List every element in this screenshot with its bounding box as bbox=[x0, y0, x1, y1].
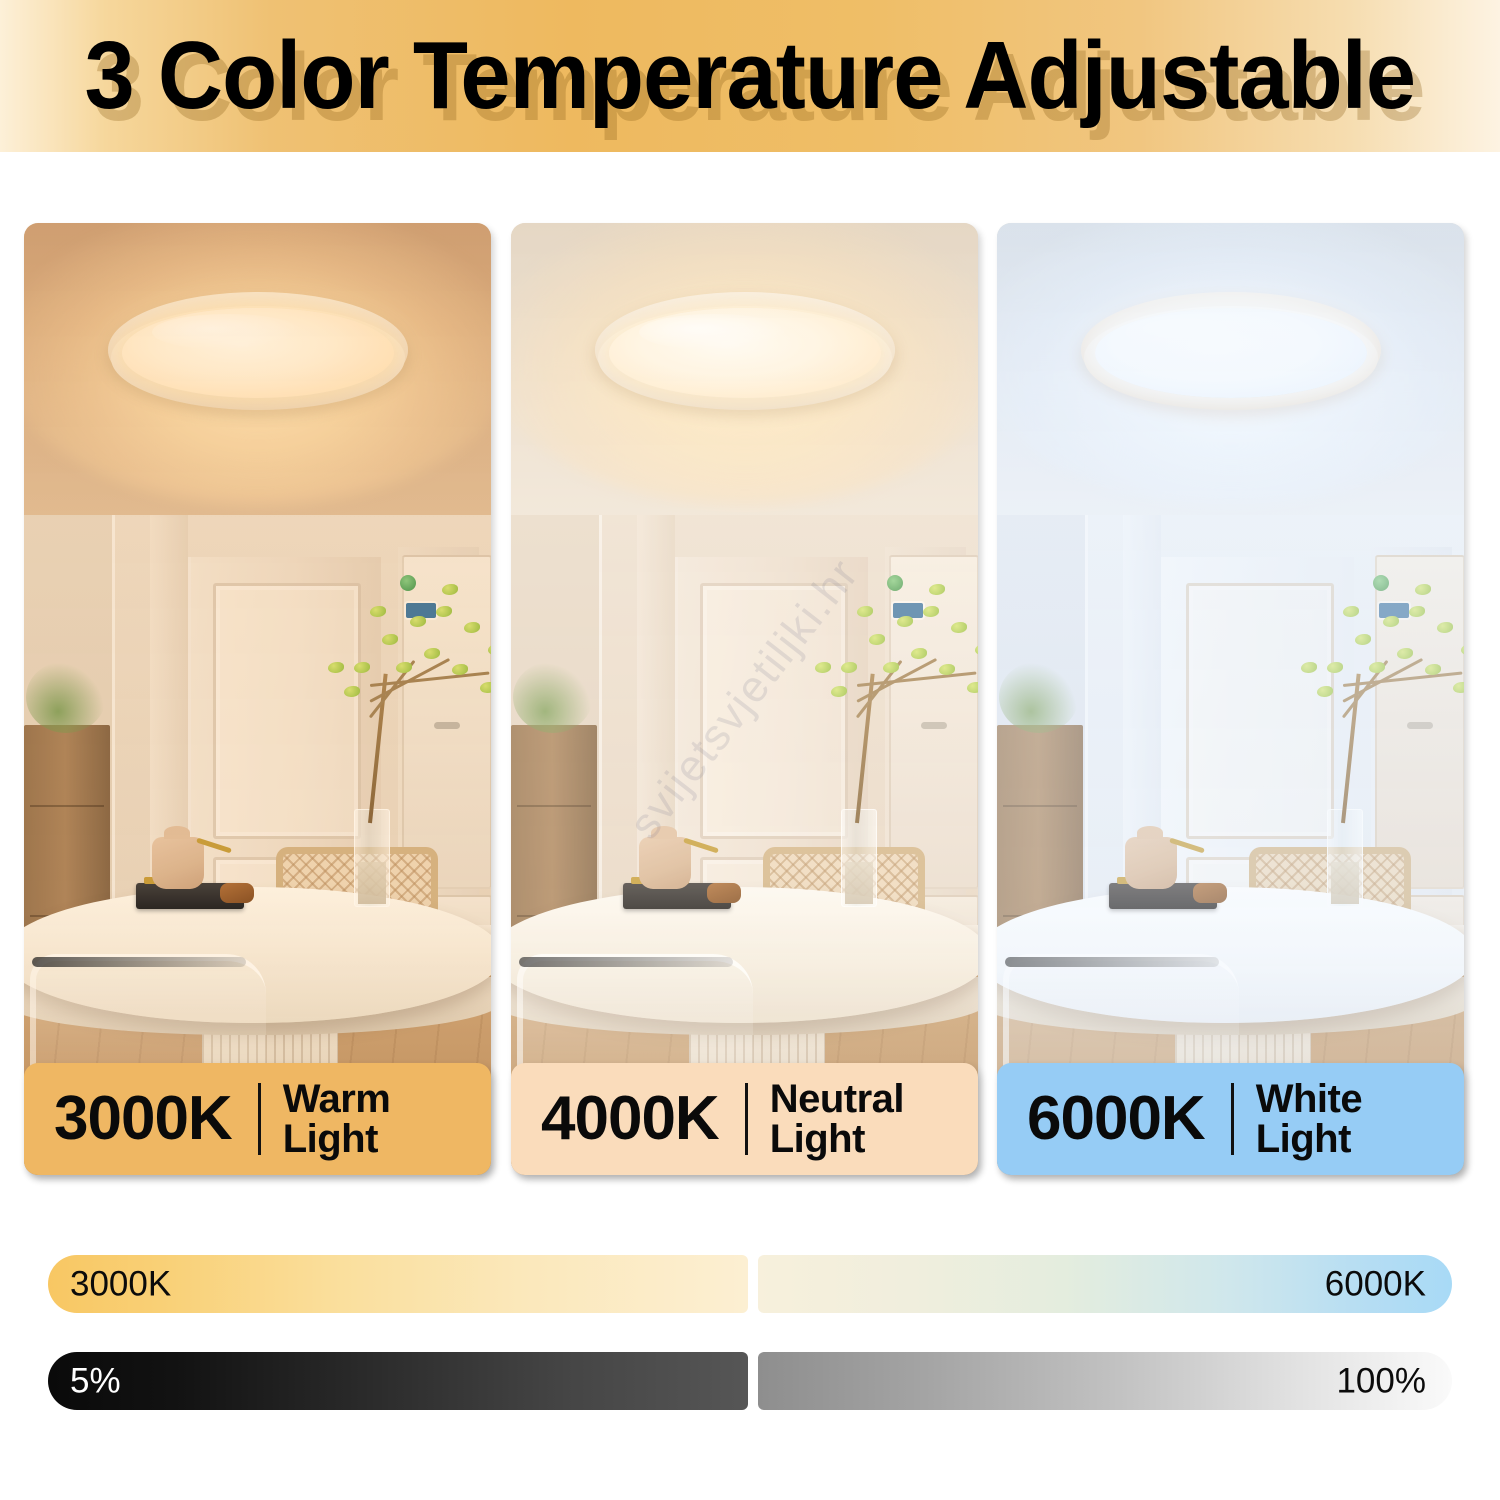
panel-6000k[interactable] bbox=[997, 223, 1464, 1175]
room-scene-6000k bbox=[997, 223, 1464, 1175]
panel-row: svijetsvjetiljki.hr bbox=[0, 223, 1500, 1175]
light-type-3000k: Warm Light bbox=[283, 1079, 491, 1159]
kelvin-value-3000k: 3000K bbox=[54, 1088, 232, 1150]
label-strip-3000k[interactable]: 3000K Warm Light bbox=[24, 1063, 491, 1175]
color-temperature-bar[interactable]: 3000K 6000K bbox=[48, 1255, 1452, 1313]
page-title: 3 Color Temperature Adjustable bbox=[0, 21, 1500, 131]
label-strip-6000k[interactable]: 6000K White Light bbox=[997, 1063, 1464, 1175]
page-title-text: 3 Color Temperature Adjustable bbox=[85, 21, 1416, 131]
light-type-6000k: White Light bbox=[1256, 1079, 1464, 1159]
kelvin-value-6000k: 6000K bbox=[1027, 1088, 1205, 1150]
label-divider bbox=[1231, 1083, 1234, 1155]
kelvin-value-4000k: 4000K bbox=[541, 1088, 719, 1150]
panel-3000k[interactable] bbox=[24, 223, 491, 1175]
label-divider bbox=[258, 1083, 261, 1155]
color-temperature-lift bbox=[997, 223, 1464, 1175]
panel-4000k[interactable]: svijetsvjetiljki.hr bbox=[511, 223, 978, 1175]
brightness-max-label: 100% bbox=[1336, 1364, 1426, 1399]
brightness-bar[interactable]: 5% 100% bbox=[48, 1352, 1452, 1410]
label-divider bbox=[745, 1083, 748, 1155]
cct-bar-right-half[interactable]: 6000K bbox=[758, 1255, 1452, 1313]
color-temperature-lift bbox=[511, 223, 978, 1175]
cct-bar-left-half[interactable]: 3000K bbox=[48, 1255, 748, 1313]
color-temperature-tint bbox=[24, 223, 491, 1175]
room-scene-4000k: svijetsvjetiljki.hr bbox=[511, 223, 978, 1175]
brightness-bar-left-half[interactable]: 5% bbox=[48, 1352, 748, 1410]
light-type-4000k: Neutral Light bbox=[770, 1079, 978, 1159]
header-banner: 3 Color Temperature Adjustable bbox=[0, 0, 1500, 152]
label-strip-4000k[interactable]: 4000K Neutral Light bbox=[511, 1063, 978, 1175]
brightness-bar-right-half[interactable]: 100% bbox=[758, 1352, 1452, 1410]
product-feature-image: 3 Color Temperature Adjustable bbox=[0, 0, 1500, 1500]
cct-max-label: 6000K bbox=[1325, 1267, 1426, 1302]
room-scene-3000k bbox=[24, 223, 491, 1175]
brightness-min-label: 5% bbox=[70, 1364, 121, 1399]
cct-min-label: 3000K bbox=[70, 1267, 171, 1302]
